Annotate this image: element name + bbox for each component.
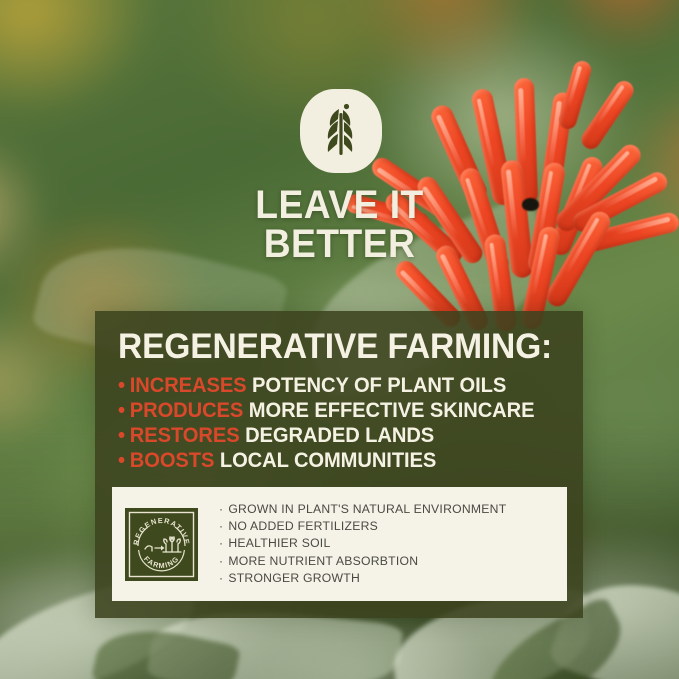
svg-text:FARMING: FARMING [142, 554, 181, 570]
wheat-leaf-icon [318, 101, 364, 162]
feature-list: ·GROWN IN PLANT'S NATURAL ENVIRONMENT ·N… [198, 501, 506, 587]
svg-text:REGENERATIVE: REGENERATIVE [131, 515, 191, 545]
bullet-dot-icon: • [118, 374, 125, 397]
regenerative-farming-seal-icon: REGENERATIVE FARMING [125, 508, 198, 581]
benefit-accent: PRODUCES [130, 399, 243, 422]
bullet-dot-icon: · [219, 502, 223, 516]
bullet-dot-icon: • [118, 449, 125, 472]
benefit-accent: BOOSTS [130, 449, 215, 472]
list-item: ·HEALTHIER SOIL [219, 535, 506, 552]
bullet-dot-icon: • [118, 399, 125, 422]
features-panel: REGENERATIVE FARMING [112, 487, 567, 601]
wordmark-line-1: LEAVE IT [255, 183, 423, 227]
list-item: ·STRONGER GROWTH [219, 570, 506, 587]
benefit-text: DEGRADED LANDS [245, 424, 434, 447]
list-item: ·NO ADDED FERTILIZERS [219, 518, 506, 535]
page-title: REGENERATIVE FARMING: [118, 327, 552, 367]
feature-text: GROWN IN PLANT'S NATURAL ENVIRONMENT [228, 502, 506, 516]
feature-text: MORE NUTRIENT ABSORBTION [228, 554, 418, 568]
poster: LEAVE IT BETTER REGENERATIVE FARMING: •I… [0, 0, 679, 679]
content-panel: REGENERATIVE FARMING: •INCREASES POTENCY… [95, 311, 583, 618]
feature-text: HEALTHIER SOIL [228, 536, 330, 550]
bullet-dot-icon: · [219, 519, 223, 533]
list-item: •BOOSTS LOCAL COMMUNITIES [118, 448, 534, 473]
wordmark-line-2: BETTER [24, 225, 655, 264]
brand-logo [300, 89, 382, 173]
benefit-accent: INCREASES [130, 374, 247, 397]
list-item: •INCREASES POTENCY OF PLANT OILS [118, 373, 534, 398]
benefit-text: POTENCY OF PLANT OILS [252, 374, 506, 397]
list-item: ·MORE NUTRIENT ABSORBTION [219, 553, 506, 570]
bullet-dot-icon: · [219, 554, 223, 568]
brand-wordmark: LEAVE IT BETTER [24, 186, 655, 264]
list-item: ·GROWN IN PLANT'S NATURAL ENVIRONMENT [219, 501, 506, 518]
benefit-text: MORE EFFECTIVE SKINCARE [249, 399, 535, 422]
list-item: •PRODUCES MORE EFFECTIVE SKINCARE [118, 398, 534, 423]
feature-text: STRONGER GROWTH [228, 571, 360, 585]
bullet-dot-icon: · [219, 536, 223, 550]
firebush-flower [370, 20, 679, 340]
list-item: •RESTORES DEGRADED LANDS [118, 423, 534, 448]
benefit-accent: RESTORES [130, 424, 240, 447]
bullet-dot-icon: · [219, 571, 223, 585]
feature-text: NO ADDED FERTILIZERS [228, 519, 378, 533]
bullet-dot-icon: • [118, 424, 125, 447]
benefit-list: •INCREASES POTENCY OF PLANT OILS •PRODUC… [118, 373, 552, 473]
benefit-text: LOCAL COMMUNITIES [220, 449, 436, 472]
